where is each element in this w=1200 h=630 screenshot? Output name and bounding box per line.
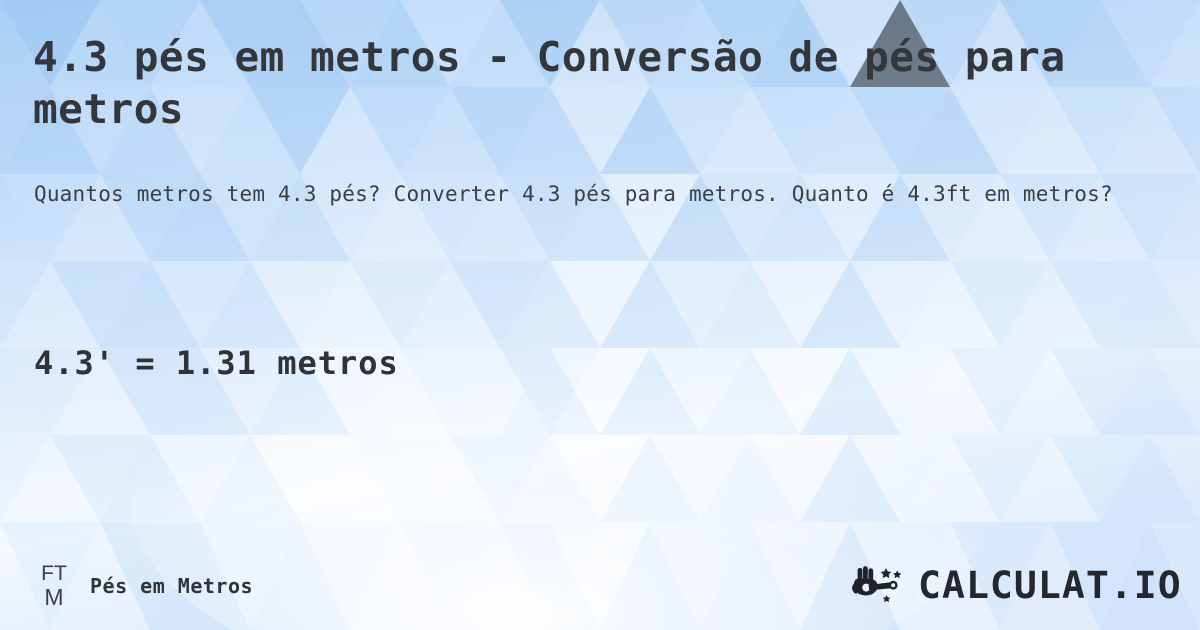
page-title: 4.3 pés em metros - Conversão de pés par… [33, 31, 1143, 135]
unit-abbr-to: M [44, 586, 63, 609]
conversion-result: 4.3' = 1.31 metros [34, 343, 399, 383]
feet-to-meters-icon: FT M [34, 560, 74, 612]
unit-abbr-from: FT [41, 563, 67, 584]
footer-converter-label: Pés em Metros [90, 574, 253, 598]
footer-converter-brand[interactable]: FT M Pés em Metros [34, 560, 253, 612]
hand-magic-wand-icon [850, 564, 912, 608]
site-brand-name: CALCULAT.IO [918, 566, 1182, 606]
card-content: 4.3 pés em metros - Conversão de pés par… [0, 0, 1200, 630]
page-subtitle: Quantos metros tem 4.3 pés? Converter 4.… [34, 176, 1149, 212]
site-brand-logo[interactable]: CALCULAT.IO [850, 564, 1174, 608]
card-footer: FT M Pés em Metros [0, 540, 1200, 630]
